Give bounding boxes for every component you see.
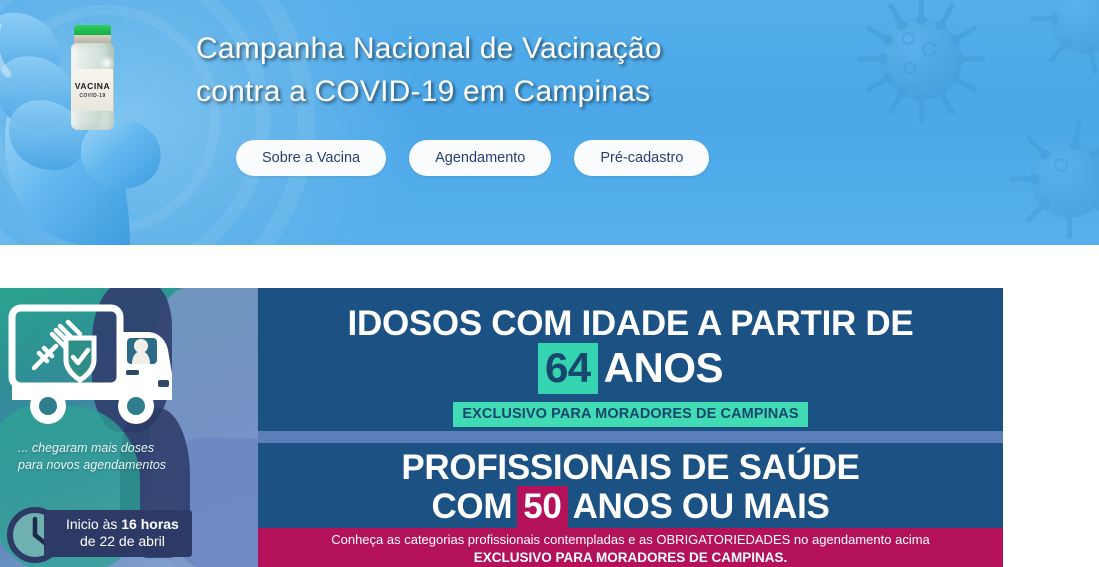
content-spacer bbox=[0, 245, 1099, 288]
vial-label: VACINA COVID-19 bbox=[72, 69, 113, 111]
hero-nav-buttons: Sobre a Vacina Agendamento Pré-cadastro bbox=[236, 140, 709, 176]
page-title-line-2: contra a COVID-19 em Campinas bbox=[196, 71, 836, 114]
anos-ou-mais-label: ANOS OU MAIS bbox=[573, 487, 830, 526]
more-doses-text: ... chegaram mais doses para novos agend… bbox=[18, 440, 218, 473]
vial-label-main: VACINA bbox=[75, 81, 111, 91]
nav-button-agendamento[interactable]: Agendamento bbox=[409, 140, 551, 176]
start-time-box: Inicio às 16 horas de 22 de abril bbox=[44, 510, 192, 557]
start-time-bold: 16 horas bbox=[121, 516, 179, 532]
anos-label: ANOS bbox=[604, 344, 723, 391]
campaign-banner[interactable]: ... chegaram mais doses para novos agend… bbox=[0, 288, 1003, 567]
hero-banner: VACINA COVID-19 bbox=[0, 0, 1099, 245]
vial-shine bbox=[99, 55, 115, 71]
health-workers-headline: PROFISSIONAIS DE SAÚDE bbox=[258, 448, 1003, 488]
campaign-banner-area: ... chegaram mais doses para novos agend… bbox=[0, 288, 1099, 567]
age-highlight-64: 64 bbox=[538, 343, 598, 394]
elderly-age-line: 64ANOS bbox=[258, 344, 1003, 392]
elderly-headline: IDOSOS COM IDADE A PARTIR DE bbox=[258, 304, 1003, 344]
notice-bar[interactable]: Conheça as categorias profissionais cont… bbox=[258, 528, 1003, 567]
nav-button-pre-cadastro[interactable]: Pré-cadastro bbox=[574, 140, 709, 176]
virus-particle-icon bbox=[1050, 0, 1099, 54]
exclusive-badge: EXCLUSIVO PARA MORADORES DE CAMPINAS bbox=[258, 402, 1003, 427]
banner-right-panel: IDOSOS COM IDADE A PARTIR DE 64ANOS EXCL… bbox=[258, 288, 1003, 567]
virus-particle-icon bbox=[1030, 140, 1099, 218]
nav-button-sobre-a-vacina[interactable]: Sobre a Vacina bbox=[236, 140, 386, 176]
notice-line-1: Conheça as categorias profissionais cont… bbox=[258, 531, 1003, 549]
more-doses-line-2: para novos agendamentos bbox=[18, 457, 218, 474]
age-highlight-50: 50 bbox=[517, 486, 567, 529]
more-doses-line-1: ... chegaram mais doses bbox=[18, 440, 218, 457]
start-time-line-2: de 22 de abril bbox=[66, 533, 179, 550]
vaccine-vial-illustration: VACINA COVID-19 bbox=[69, 25, 116, 130]
vial-label-sub: COVID-19 bbox=[79, 93, 105, 99]
banner-left-panel: ... chegaram mais doses para novos agend… bbox=[0, 288, 258, 567]
exclusive-badge-text: EXCLUSIVO PARA MORADORES DE CAMPINAS bbox=[453, 402, 807, 427]
start-time-line-1: Inicio às 16 horas bbox=[66, 516, 179, 533]
delivery-truck-icon bbox=[8, 302, 198, 432]
com-label: COM bbox=[431, 487, 512, 526]
notice-line-2: EXCLUSIVO PARA MORADORES DE CAMPINAS. bbox=[258, 549, 1003, 567]
start-time-prefix: Inicio às bbox=[66, 516, 121, 532]
page-title: Campanha Nacional de Vacinação contra a … bbox=[196, 28, 836, 113]
banner-section-divider bbox=[258, 431, 1003, 443]
virus-particle-icon bbox=[880, 18, 962, 100]
page-title-line-1: Campanha Nacional de Vacinação bbox=[196, 28, 836, 71]
health-workers-age-line: COM50ANOS OU MAIS bbox=[258, 487, 1003, 527]
